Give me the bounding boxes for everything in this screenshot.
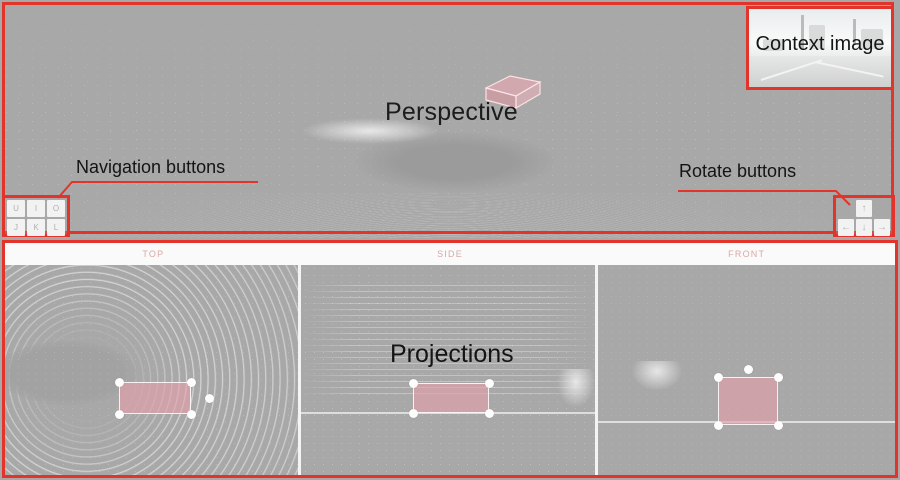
projection-titles-bar: TOP SIDE FRONT xyxy=(5,243,895,265)
rotate-buttons-callout: Rotate buttons xyxy=(679,161,796,182)
rotate-key-down[interactable]: ↓ xyxy=(856,219,872,236)
nav-key-j[interactable]: J xyxy=(7,219,25,236)
navigation-buttons-callout: Navigation buttons xyxy=(76,157,225,178)
navigation-buttons-panel[interactable]: U I O J K L xyxy=(2,195,70,237)
rotate-key-left[interactable]: ← xyxy=(838,219,854,236)
perspective-label: Perspective xyxy=(385,98,518,127)
projection-title-front: FRONT xyxy=(598,243,895,265)
nav-key-k[interactable]: K xyxy=(27,219,45,236)
front-view-handle-bl[interactable] xyxy=(714,421,723,430)
projections-label: Projections xyxy=(390,340,514,369)
nav-key-o[interactable]: O xyxy=(47,200,65,217)
rotate-key-row-top: ↑ xyxy=(838,200,890,217)
annotation-tool-window: Perspective Context image U I O J K L Na… xyxy=(0,0,900,480)
side-view-handle-tl[interactable] xyxy=(409,379,418,388)
front-view-handle-br[interactable] xyxy=(774,421,783,430)
nav-key-row-bottom: J K L xyxy=(7,219,65,236)
rotate-buttons-panel[interactable]: ↑ ← ↓ → xyxy=(833,195,895,237)
projection-title-top: TOP xyxy=(5,243,302,265)
top-view-points xyxy=(5,265,298,475)
rotate-key-spacer-right xyxy=(874,200,890,217)
front-view-handle-tr[interactable] xyxy=(774,373,783,382)
front-view-bounding-box[interactable] xyxy=(718,377,778,425)
nav-key-i[interactable]: I xyxy=(27,200,45,217)
nav-key-row-top: U I O xyxy=(7,200,65,217)
side-view-handle-tr[interactable] xyxy=(485,379,494,388)
side-view-bounding-box[interactable] xyxy=(413,383,489,413)
arrow-down-icon: ↓ xyxy=(862,223,867,233)
top-view-handle-tr[interactable] xyxy=(187,378,196,387)
arrow-left-icon: ← xyxy=(841,223,851,233)
context-image-label: Context image xyxy=(749,33,891,56)
front-view-foliage xyxy=(626,361,688,395)
side-view-tree xyxy=(553,369,595,413)
projection-pane-side[interactable] xyxy=(301,265,595,475)
nav-key-u[interactable]: U xyxy=(7,200,25,217)
side-view-handle-bl[interactable] xyxy=(409,409,418,418)
side-view-handle-br[interactable] xyxy=(485,409,494,418)
projection-panes xyxy=(5,265,895,475)
top-view-handle-heading[interactable] xyxy=(205,394,214,403)
projection-title-side: SIDE xyxy=(302,243,599,265)
nav-key-l[interactable]: L xyxy=(47,219,65,236)
arrow-right-icon: → xyxy=(877,223,887,233)
side-view-points xyxy=(301,265,595,475)
context-image-panel[interactable]: Context image xyxy=(746,6,894,90)
projections-section: TOP SIDE FRONT xyxy=(0,240,900,480)
front-view-handle-top-center[interactable] xyxy=(744,365,753,374)
front-view-handle-tl[interactable] xyxy=(714,373,723,382)
rotate-key-row-bottom: ← ↓ → xyxy=(838,219,890,236)
top-view-bounding-box[interactable] xyxy=(119,382,191,414)
top-view-handle-br[interactable] xyxy=(187,410,196,419)
rotate-key-spacer-left xyxy=(838,200,854,217)
top-view-handle-bl[interactable] xyxy=(115,410,124,419)
rotate-key-up[interactable]: ↑ xyxy=(856,200,872,217)
top-view-handle-tl[interactable] xyxy=(115,378,124,387)
arrow-up-icon: ↑ xyxy=(862,204,867,214)
projection-pane-front[interactable] xyxy=(598,265,895,475)
projection-pane-top[interactable] xyxy=(5,265,298,475)
rotate-key-right[interactable]: → xyxy=(874,219,890,236)
